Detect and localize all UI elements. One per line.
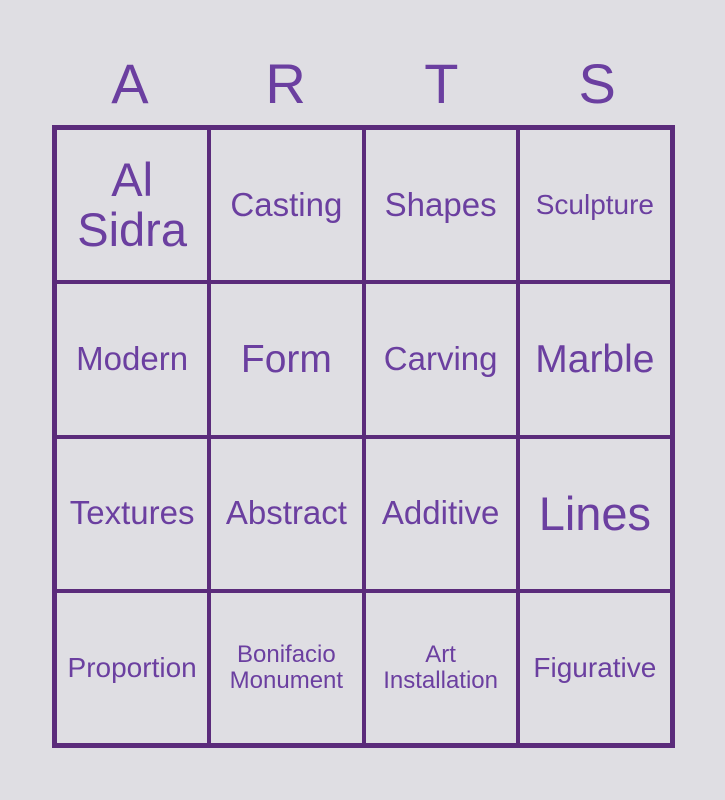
bingo-cell-r2c3[interactable]: Carving [366,284,516,434]
bingo-cell-r2c1[interactable]: Modern [57,284,207,434]
bingo-cell-label: Form [215,339,357,380]
bingo-cell-label: Additive [370,496,512,531]
header-letter-1: A [52,56,208,112]
bingo-cell-r1c4[interactable]: Sculpture [520,130,670,280]
bingo-cell-label: Sculpture [524,190,666,220]
bingo-cell-r4c1[interactable]: Proportion [57,593,207,743]
bingo-cell-r3c1[interactable]: Textures [57,439,207,589]
bingo-cell-r3c2[interactable]: Abstract [211,439,361,589]
bingo-cell-label: Textures [61,496,203,531]
header-letter-2: R [208,56,364,112]
bingo-cell-label: Shapes [370,188,512,223]
bingo-cell-label: Casting [215,188,357,223]
bingo-grid: Al Sidra Casting Shapes Sculpture Modern… [52,125,675,748]
bingo-cell-r1c3[interactable]: Shapes [366,130,516,280]
bingo-cell-r1c2[interactable]: Casting [211,130,361,280]
bingo-cell-r2c2[interactable]: Form [211,284,361,434]
bingo-cell-label: Figurative [524,653,666,683]
bingo-cell-label: Carving [370,342,512,377]
bingo-cell-label: Proportion [61,653,203,683]
header-letter-4: S [519,56,675,112]
bingo-header-row: A R T S [52,48,675,120]
bingo-cell-label: Modern [61,342,203,377]
bingo-cell-label: Al Sidra [61,155,203,255]
bingo-cell-r2c4[interactable]: Marble [520,284,670,434]
bingo-cell-r3c3[interactable]: Additive [366,439,516,589]
bingo-cell-label: Art Installation [370,642,512,693]
bingo-cell-label: Abstract [215,496,357,531]
header-letter-3: T [364,56,520,112]
bingo-cell-r4c4[interactable]: Figurative [520,593,670,743]
bingo-cell-r4c2[interactable]: Bonifacio Monument [211,593,361,743]
bingo-cell-r3c4[interactable]: Lines [520,439,670,589]
bingo-cell-label: Bonifacio Monument [215,642,357,693]
bingo-card: A R T S Al Sidra Casting Shapes Sculptur… [0,0,725,800]
bingo-cell-label: Marble [524,339,666,380]
bingo-cell-r1c1[interactable]: Al Sidra [57,130,207,280]
bingo-cell-label: Lines [524,489,666,539]
bingo-cell-r4c3[interactable]: Art Installation [366,593,516,743]
